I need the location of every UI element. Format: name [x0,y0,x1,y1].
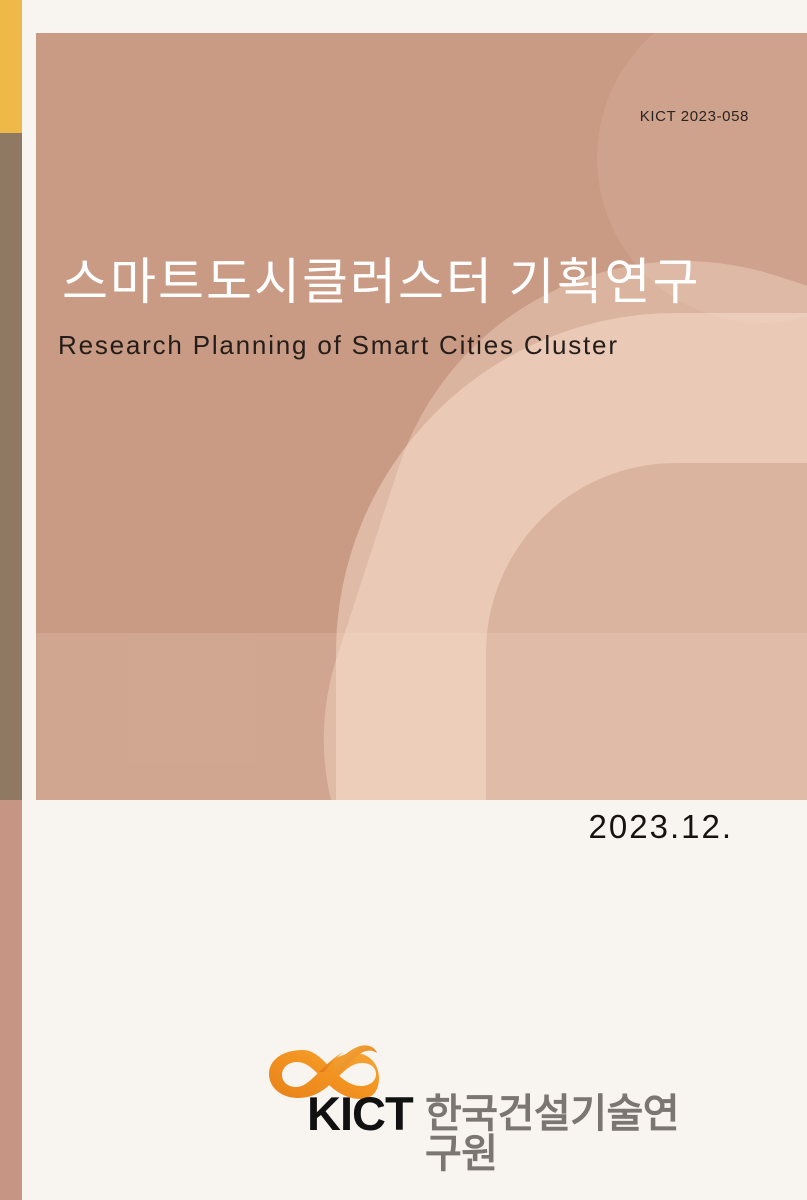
decorative-lower-tint [36,633,807,800]
logo-acronym: KICT [307,1090,413,1137]
logo-organization-name: 한국건설기술연구원 [425,1094,687,1174]
spine-bar-brown [0,133,22,800]
report-number: KICT 2023-058 [640,108,749,125]
publication-date: 2023.12. [589,808,733,846]
report-cover-page: KICT 2023-058 스마트도시클러스터 기획연구 Research Pl… [0,0,807,1200]
decorative-curved-band [336,313,807,800]
publisher-logo: KICT 한국건설기술연구원 [267,1036,687,1142]
page-title-korean: 스마트도시클러스터 기획연구 [62,255,701,310]
cover-art-panel: KICT 2023-058 스마트도시클러스터 기획연구 Research Pl… [36,33,807,800]
spine-bar-gold [0,0,22,133]
page-title-english: Research Planning of Smart Cities Cluste… [58,330,619,361]
spine-bar-rose [0,800,22,1200]
